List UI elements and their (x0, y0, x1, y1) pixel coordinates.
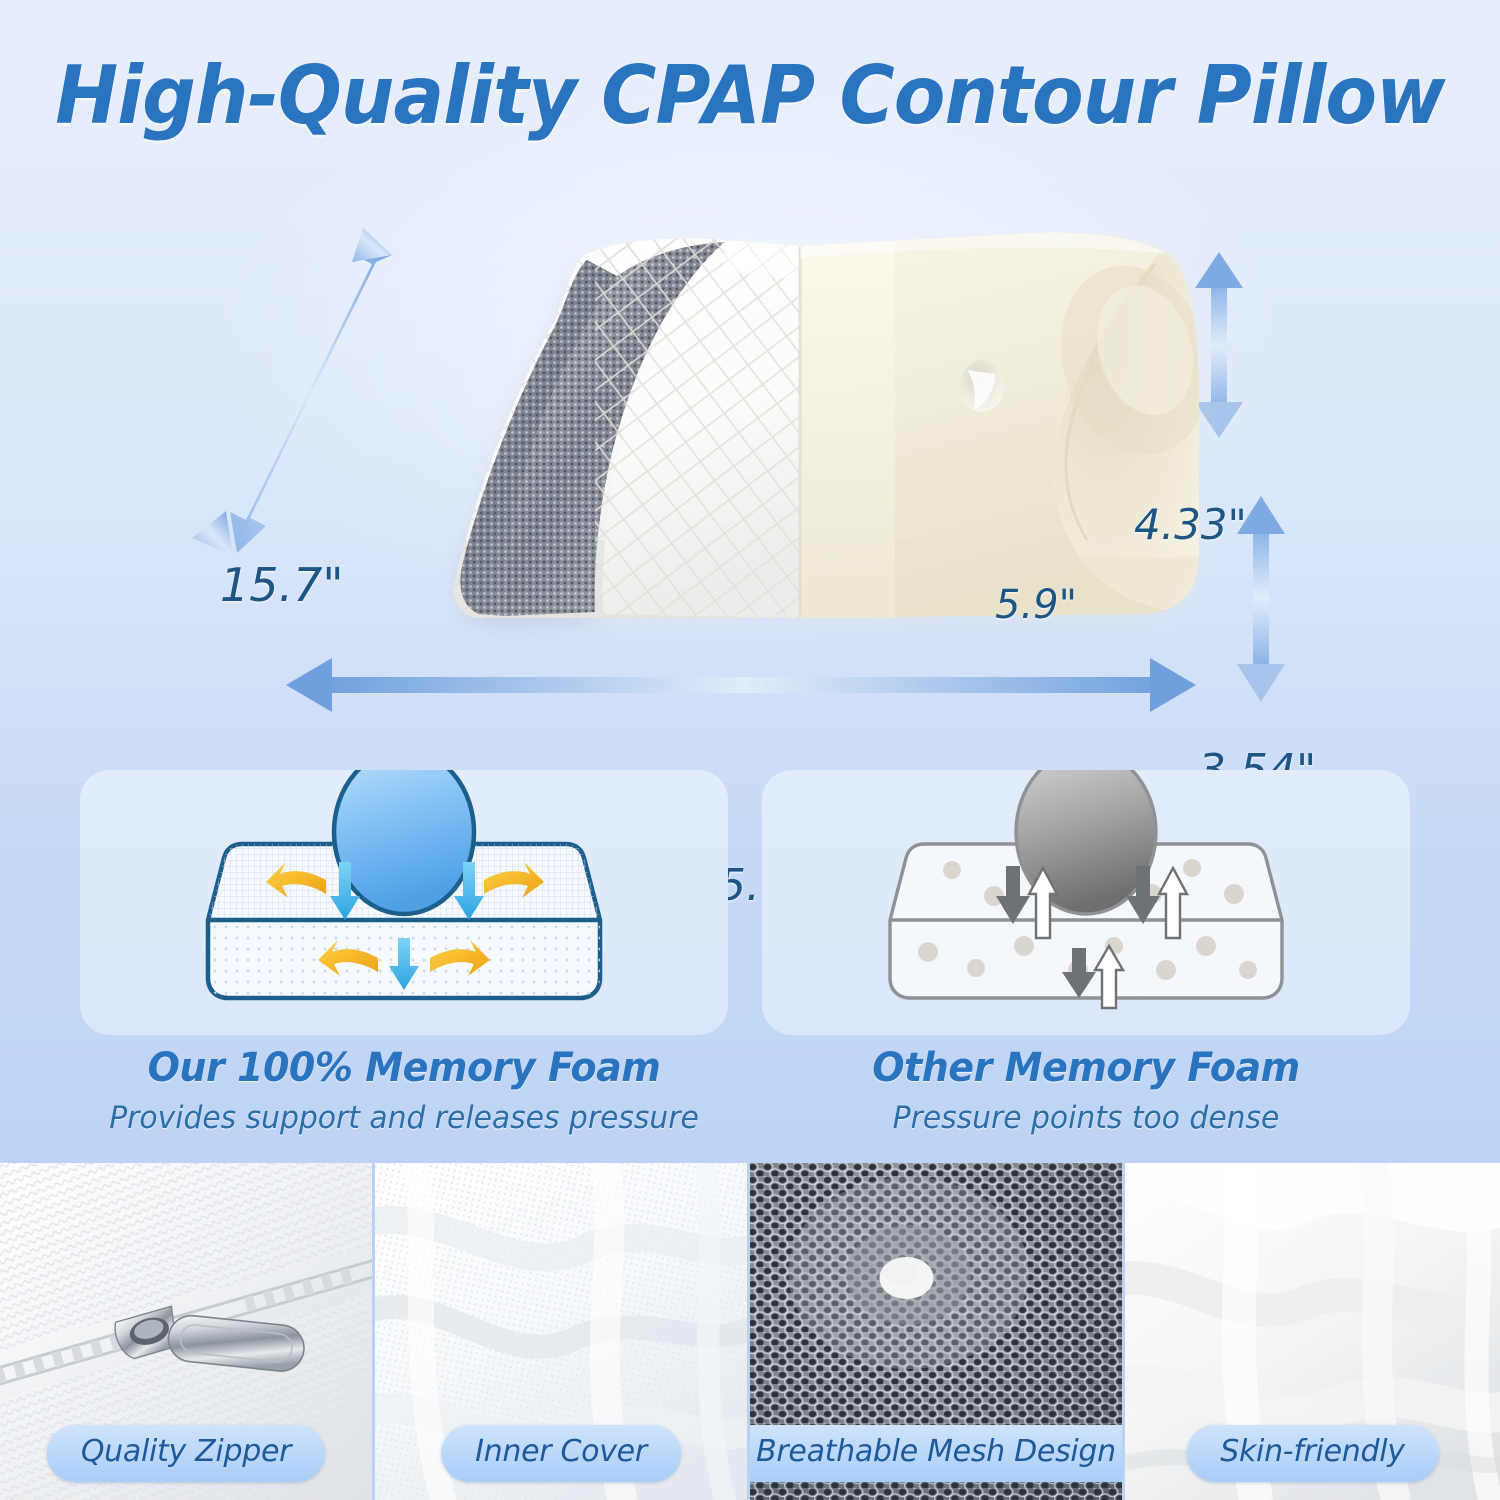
other-foam-title: Other Memory Foam (778, 1045, 1394, 1091)
pillow-foam-right (800, 232, 1215, 618)
dimension-label-cutout: 5.9" (995, 582, 1077, 628)
page-title: High-Quality CPAP Contour Pillow (45, 54, 1455, 138)
feature-photo-breathable-mesh: Breathable Mesh Design (750, 1163, 1125, 1500)
dimension-label-depth: 15.7" (220, 558, 344, 612)
feature-photo-strip: Quality Zipper (0, 1163, 1500, 1500)
feature-label-quality-zipper: Quality Zipper (47, 1425, 325, 1482)
pillow-body (445, 230, 1215, 630)
feature-photo-skin-friendly: Skin-friendly (1125, 1163, 1500, 1500)
arrow-horizontal-width (286, 658, 1196, 712)
other-foam-subtitle: Pressure points too dense (775, 1100, 1397, 1136)
ventilation-hole (960, 360, 1004, 412)
pillow-cover-left (445, 230, 825, 630)
mesh-panel (460, 230, 825, 630)
feature-label-breathable-mesh: Breathable Mesh Design (750, 1425, 1125, 1482)
other-foam-diagram (762, 770, 1410, 1035)
our-foam-diagram (80, 770, 728, 1035)
comparison-card-other-foam (762, 770, 1410, 1035)
pressure-ball (334, 770, 474, 914)
hero-section: 15.7" 4.33" 5.9" 3.54" 25.6" (0, 200, 1500, 720)
our-foam-title: Our 100% Memory Foam (96, 1045, 712, 1091)
feature-photo-quality-zipper: Quality Zipper (0, 1163, 375, 1500)
comparison-card-our-foam (80, 770, 728, 1035)
infographic-page: High-Quality CPAP Contour Pillow (0, 0, 1500, 1500)
feature-label-inner-cover: Inner Cover (441, 1425, 681, 1482)
feature-label-skin-friendly: Skin-friendly (1186, 1425, 1439, 1482)
dimension-label-height-high: 4.33" (1134, 500, 1247, 549)
feature-photo-inner-cover: Inner Cover (375, 1163, 750, 1500)
our-foam-subtitle: Provides support and releases pressure (93, 1100, 715, 1136)
comparison-section: Our 100% Memory Foam Provides support an… (0, 770, 1500, 1170)
